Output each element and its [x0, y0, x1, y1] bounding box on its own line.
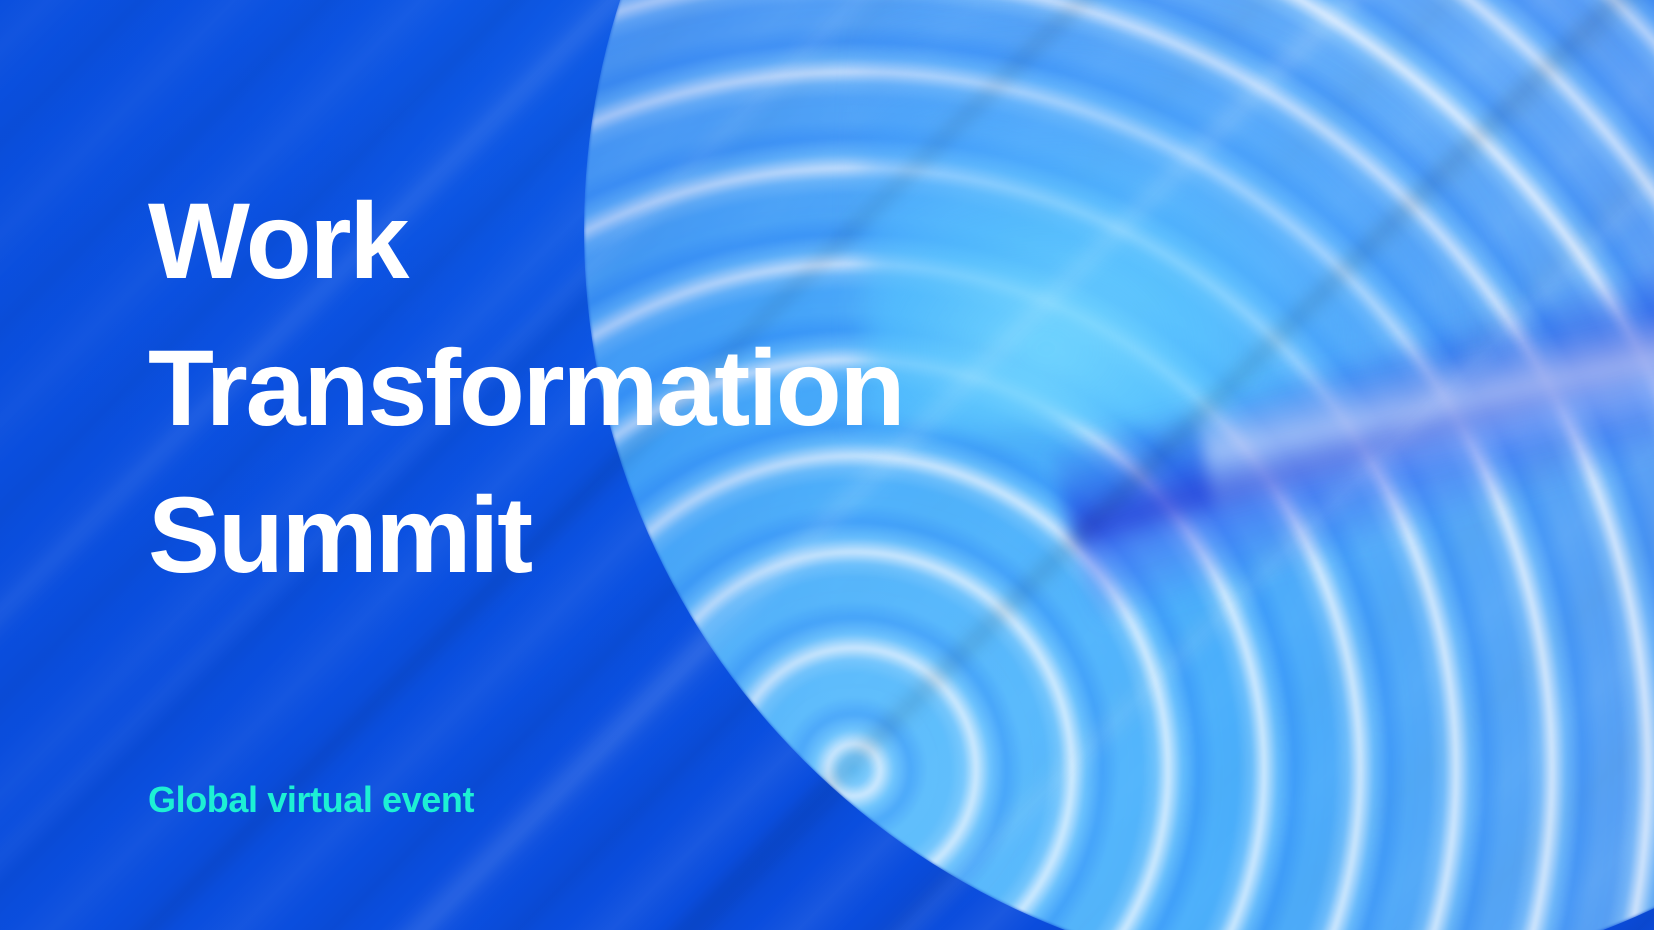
headline-line-1: Work — [148, 168, 1158, 315]
hero-subtitle: Global virtual event — [148, 782, 474, 818]
headline-line-2: Transformation — [148, 315, 1158, 462]
hero-content: Work Transformation Summit Global virtua… — [0, 0, 1654, 930]
headline-line-3: Summit — [148, 462, 1158, 609]
hero-banner: Work Transformation Summit Global virtua… — [0, 0, 1654, 930]
page-title: Work Transformation Summit — [148, 0, 1158, 609]
